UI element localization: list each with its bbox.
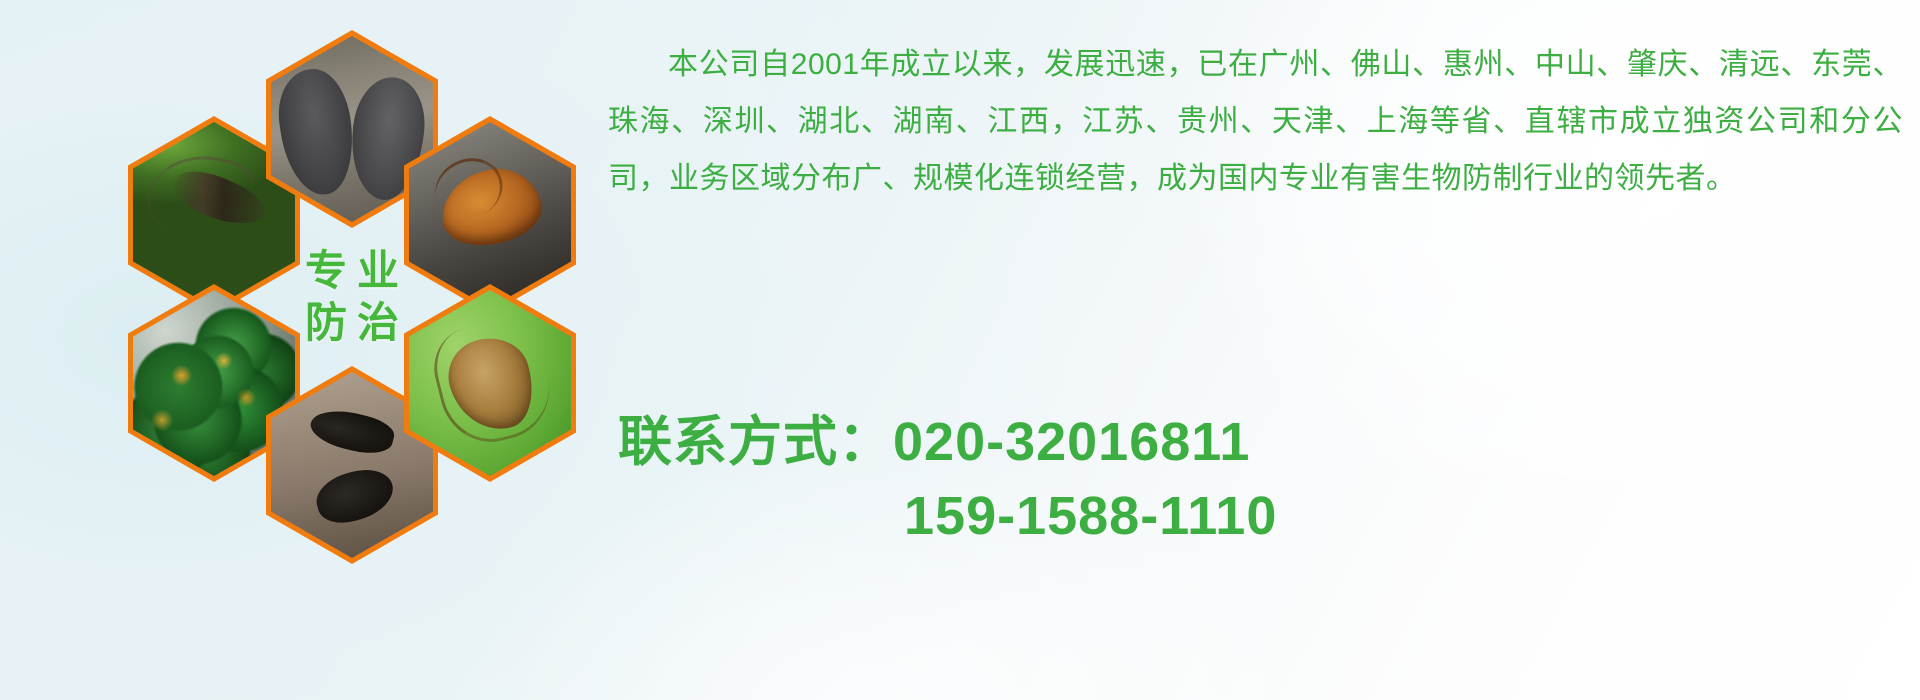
company-description: 本公司自2001年成立以来，发展迅速，已在广州、佛山、惠州、中山、肇庆、清远、东… xyxy=(608,36,1903,207)
honeycomb-photo-cluster: 专业 防治 xyxy=(90,6,590,566)
contact-block: 联系方式：020-32016811 159-1588-1110 xyxy=(618,405,1908,553)
contact-phone-line[interactable]: 联系方式：020-32016811 xyxy=(618,405,1908,479)
pest-control-banner: 专业 防治 本公司自2001年成立以来，发展迅速，已在广州、佛山、惠州、中山、肇… xyxy=(0,0,1920,700)
slogan-line-1: 专业 xyxy=(295,250,409,292)
company-description-text: 本公司自2001年成立以来，发展迅速，已在广州、佛山、惠州、中山、肇庆、清远、东… xyxy=(608,36,1903,207)
contact-mobile-line[interactable]: 159-1588-1110 xyxy=(618,479,1908,553)
slogan-hexagon: 专业 防治 xyxy=(266,198,438,396)
slogan-line-2: 防治 xyxy=(295,302,409,344)
